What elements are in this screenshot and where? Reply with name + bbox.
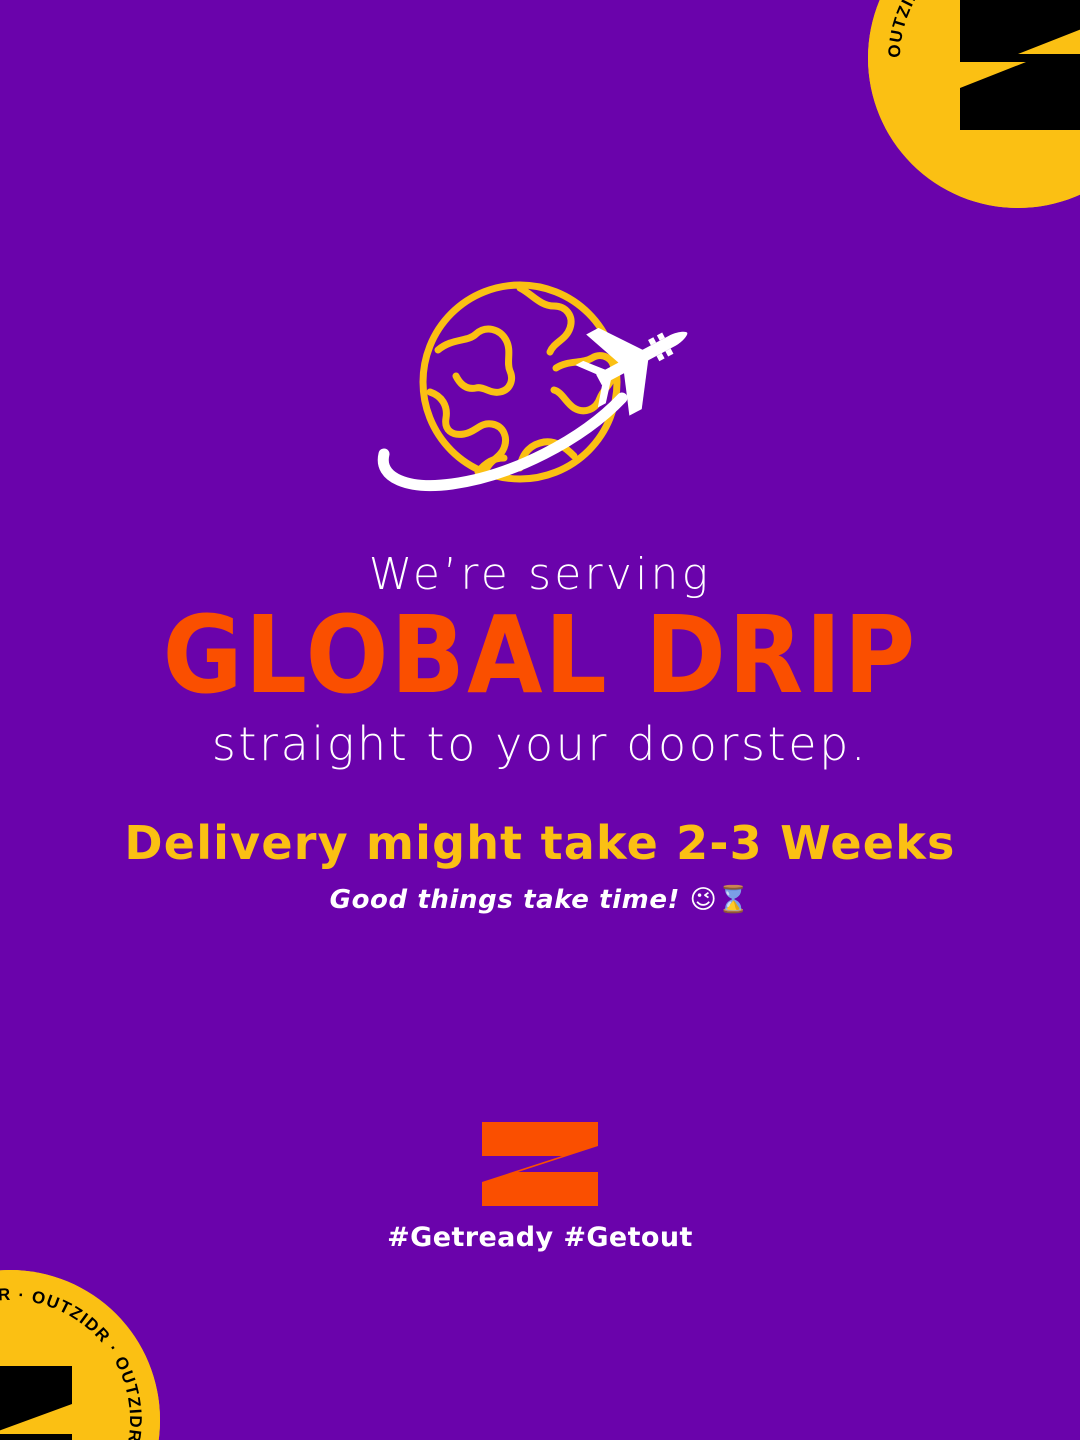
z-logo-shape	[482, 1122, 598, 1206]
footer-brand-block: #Getready #Getout	[0, 1120, 1080, 1253]
subline-text: straight to your doorstep.	[0, 720, 1080, 768]
globe-outline-icon	[423, 285, 617, 479]
wink-hourglass-emoji: 😉⌛	[690, 885, 751, 915]
headline-text: GLOBAL DRIP	[0, 603, 1080, 710]
promo-poster: OUTZIDR · OUTZIDR · OUTZIDR · OUTZIDR · …	[0, 0, 1080, 1440]
delivery-notice-text: Delivery might take 2-3 Weeks	[0, 818, 1080, 869]
headline-copy-block: We’re serving GLOBAL DRIP straight to yo…	[0, 552, 1080, 768]
brand-badge-bottom-left: OUTZIDR · OUTZIDR · OUTZIDR · OUTZIDR · …	[0, 1270, 160, 1440]
delivery-reassurance: Good things take time! 😉⌛	[0, 885, 1080, 916]
brand-badge-top-right: OUTZIDR · OUTZIDR · OUTZIDR · OUTZIDR ·	[868, 0, 1080, 208]
reassurance-text: Good things take time!	[330, 885, 680, 915]
hashtags-text: #Getready #Getout	[0, 1222, 1080, 1253]
eyebrow-text: We’re serving	[0, 552, 1080, 598]
delivery-notice-block: Delivery might take 2-3 Weeks Good thing…	[0, 818, 1080, 916]
outzidr-z-logo	[476, 1120, 604, 1208]
globe-airplane-illustration	[360, 272, 720, 512]
